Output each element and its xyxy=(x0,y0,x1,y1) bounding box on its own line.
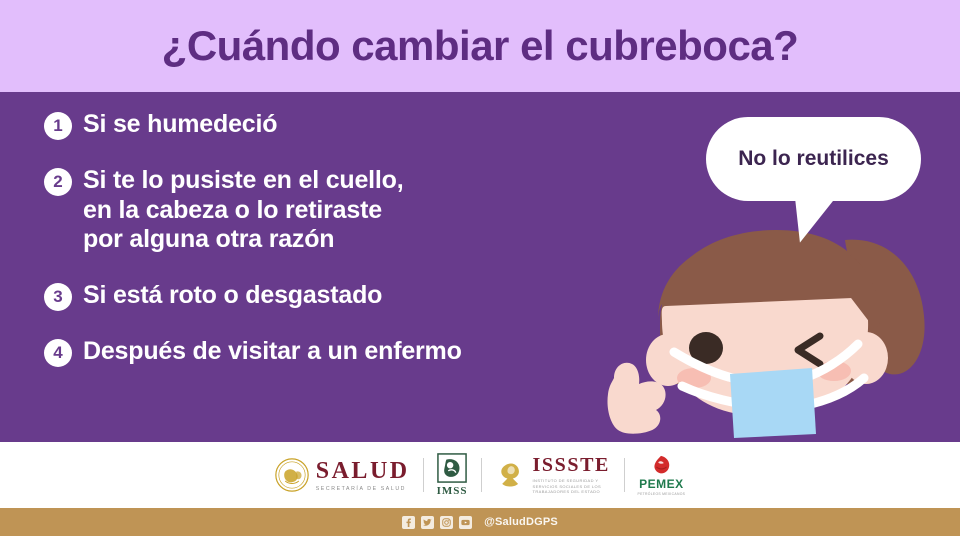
list-item: 3 Si está roto o desgastado xyxy=(44,281,634,311)
issste-text-block: ISSSTE INSTITUTO DE SEGURIDAD Y SERVICIO… xyxy=(533,455,611,495)
logo-divider xyxy=(481,458,482,492)
instagram-icon[interactable] xyxy=(440,516,453,529)
item-line: Si está roto o desgastado xyxy=(83,281,382,311)
item-line: por alguna otra razón xyxy=(83,225,403,255)
issste-emblem-icon xyxy=(495,460,527,490)
infographic-poster: ¿Cuándo cambiar el cubreboca? 1 Si se hu… xyxy=(0,0,960,536)
pemex-eagle-icon xyxy=(650,454,672,476)
girl-with-mask-illustration xyxy=(590,228,960,442)
reasons-list: 1 Si se humedeció 2 Si te lo pusiste en … xyxy=(44,110,634,393)
item-text: Si te lo pusiste en el cuello, en la cab… xyxy=(83,166,403,255)
issste-subtitle: INSTITUTO DE SEGURIDAD Y SERVICIOS SOCIA… xyxy=(533,478,611,495)
government-logo-band: SALUD SECRETARÍA DE SALUD IMSS ISSSTE IN xyxy=(0,442,960,508)
logo-divider xyxy=(624,458,625,492)
facebook-icon[interactable] xyxy=(402,516,415,529)
item-line: Si te lo pusiste en el cuello, xyxy=(83,166,403,196)
item-line: en la cabeza o lo retiraste xyxy=(83,196,403,226)
speech-bubble-tail xyxy=(786,193,834,247)
item-number-badge: 2 xyxy=(44,168,72,196)
item-text: Después de visitar a un enfermo xyxy=(83,337,462,367)
logo-imss: IMSS xyxy=(437,453,468,497)
item-number-badge: 1 xyxy=(44,112,72,140)
twitter-icon[interactable] xyxy=(421,516,434,529)
speech-bubble: No lo reutilices xyxy=(706,117,921,201)
page-title: ¿Cuándo cambiar el cubreboca? xyxy=(162,22,799,70)
logo-salud: SALUD SECRETARÍA DE SALUD xyxy=(275,458,410,492)
salud-text-block: SALUD SECRETARÍA DE SALUD xyxy=(316,459,410,492)
item-number-badge: 3 xyxy=(44,283,72,311)
logo-issste: ISSSTE INSTITUTO DE SEGURIDAD Y SERVICIO… xyxy=(495,455,611,495)
mexico-eagle-emblem-icon xyxy=(275,458,309,492)
social-handle: @SaludDGPS xyxy=(484,516,558,528)
issste-wordmark: ISSSTE xyxy=(533,455,611,475)
item-text: Si se humedeció xyxy=(83,110,277,140)
list-item: 4 Después de visitar a un enfermo xyxy=(44,337,634,367)
speech-bubble-text: No lo reutilices xyxy=(738,147,889,171)
social-media-bar: @SaludDGPS xyxy=(0,508,960,536)
logo-divider xyxy=(423,458,424,492)
youtube-icon[interactable] xyxy=(459,516,472,529)
imss-wordmark: IMSS xyxy=(437,485,468,497)
salud-subtitle: SECRETARÍA DE SALUD xyxy=(316,486,410,492)
item-line: Si se humedeció xyxy=(83,110,277,140)
header-banner: ¿Cuándo cambiar el cubreboca? xyxy=(0,0,960,92)
imss-emblem-icon xyxy=(437,453,467,483)
pemex-wordmark: PEMEX xyxy=(639,477,684,491)
item-text: Si está roto o desgastado xyxy=(83,281,382,311)
item-number-badge: 4 xyxy=(44,339,72,367)
logo-pemex: PEMEX PETRÓLEOS MEXICANOS xyxy=(638,454,686,496)
list-item: 1 Si se humedeció xyxy=(44,110,634,140)
salud-wordmark: SALUD xyxy=(316,459,410,483)
list-item: 2 Si te lo pusiste en el cuello, en la c… xyxy=(44,166,634,255)
item-line: Después de visitar a un enfermo xyxy=(83,337,462,367)
pemex-subtitle: PETRÓLEOS MEXICANOS xyxy=(638,492,686,496)
